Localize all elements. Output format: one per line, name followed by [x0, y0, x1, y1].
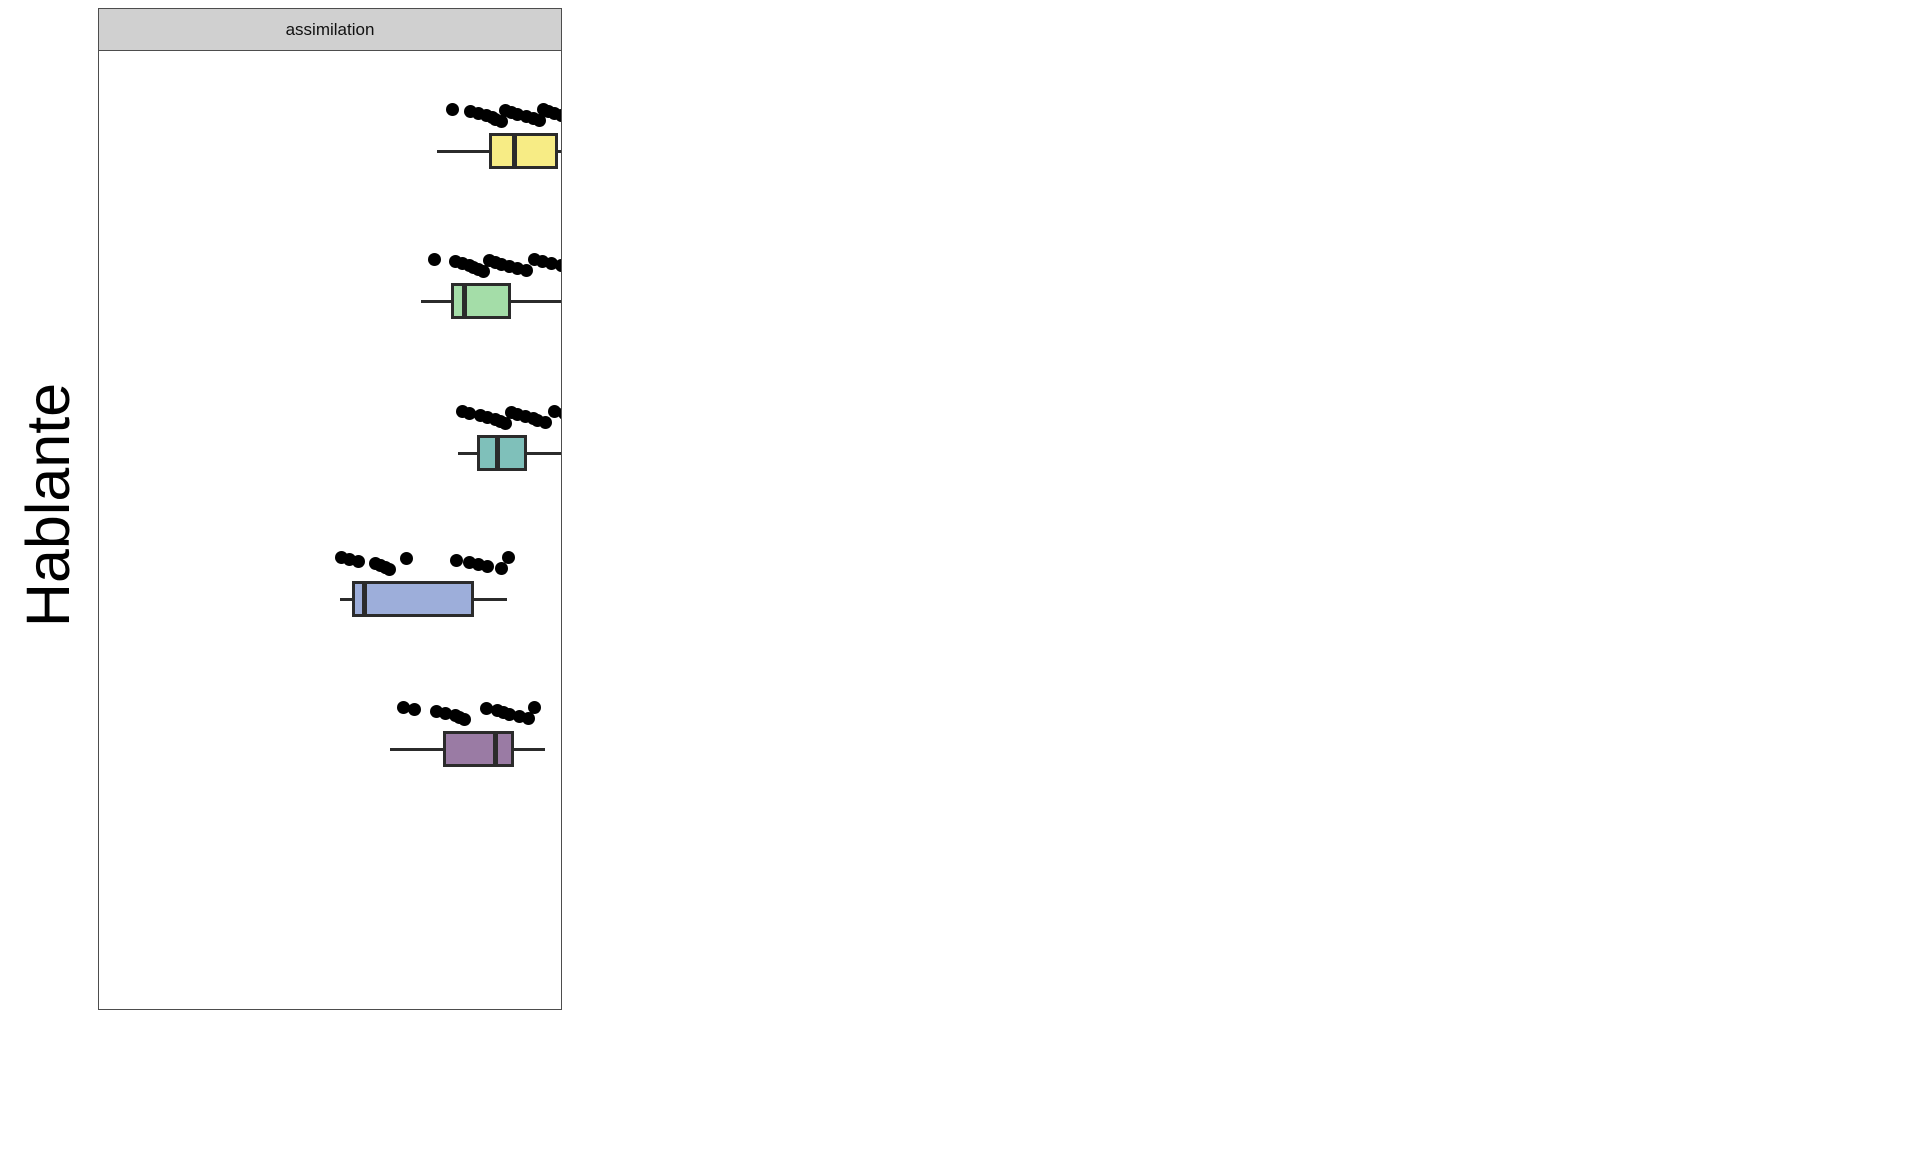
- data-point: [495, 562, 508, 575]
- data-point: [528, 701, 541, 714]
- data-point: [558, 407, 561, 420]
- boxplot-median: [493, 731, 498, 767]
- data-point: [383, 563, 396, 576]
- boxplot-box: [443, 731, 515, 767]
- data-point: [446, 103, 459, 116]
- data-point: [520, 264, 533, 277]
- boxplot-median: [495, 435, 500, 471]
- boxplot-median: [512, 133, 517, 169]
- y-axis-title-text: Hablante: [13, 383, 83, 627]
- figure-root: Hablante assimilation: [0, 0, 1920, 1152]
- data-point: [481, 560, 494, 573]
- boxplot-median: [362, 581, 367, 617]
- boxplot-box: [489, 133, 557, 169]
- y-axis-title: Hablante: [0, 0, 96, 1010]
- data-point: [458, 713, 471, 726]
- data-point: [400, 552, 413, 565]
- boxplot-box: [477, 435, 527, 471]
- boxplot-median: [462, 283, 467, 319]
- data-point: [450, 554, 463, 567]
- data-point: [539, 416, 552, 429]
- plot-area-assimilation: [99, 51, 561, 1009]
- facet-panel-assimilation: assimilation: [98, 8, 562, 1010]
- boxplot-box: [352, 581, 473, 617]
- facet-strip-label-assimilation: assimilation: [99, 9, 561, 51]
- data-point: [499, 417, 512, 430]
- data-point: [352, 555, 365, 568]
- data-point: [502, 551, 515, 564]
- data-point: [428, 253, 441, 266]
- data-point: [555, 259, 561, 272]
- data-point: [408, 703, 421, 716]
- boxplot-box: [451, 283, 512, 319]
- data-point: [555, 109, 561, 122]
